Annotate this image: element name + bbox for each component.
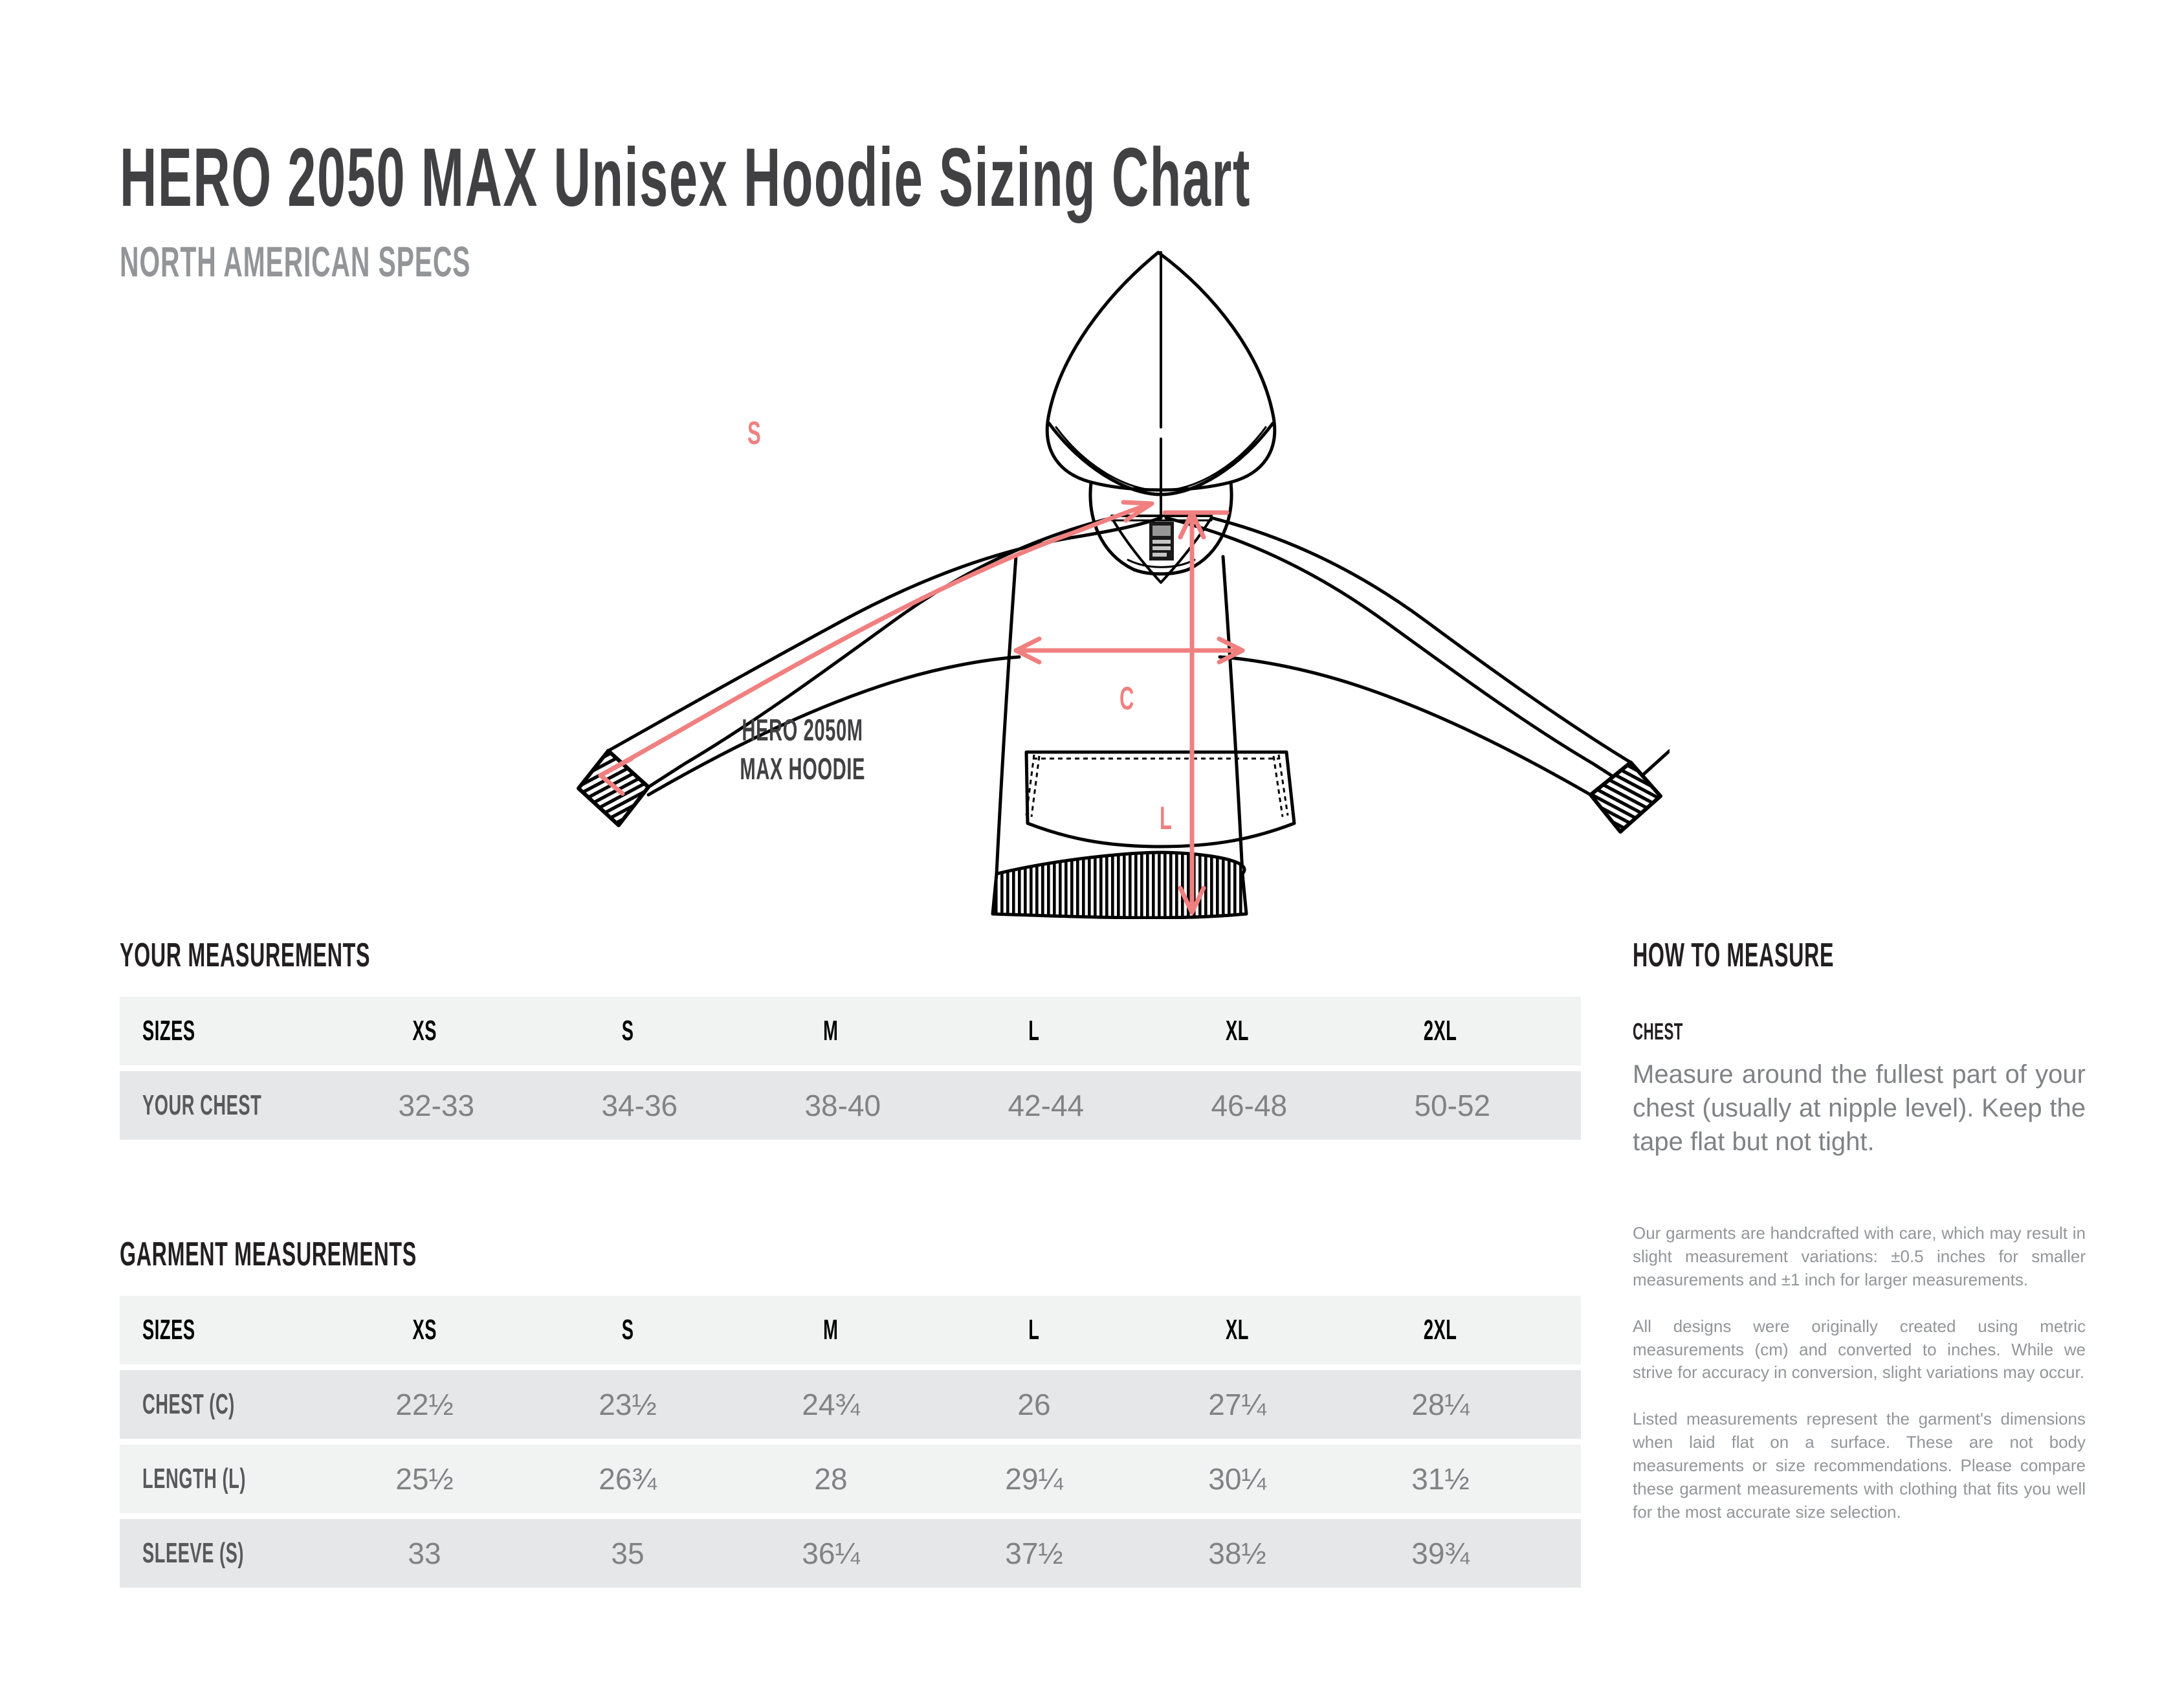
column-header-l: L xyxy=(932,1015,1136,1047)
cell-chest-s: 23½ xyxy=(526,1387,729,1422)
cell-your-chest-m: 38-40 xyxy=(741,1088,944,1123)
garment-caption-line2: MAX HOODIE xyxy=(740,750,865,788)
collar-bottom xyxy=(1134,570,1188,574)
cell-chest-2xl: 28¼ xyxy=(1339,1387,1542,1422)
column-header-m: M xyxy=(729,1015,932,1047)
your-measurements-table: SIZES XS S M L XL 2XL YOUR CHEST 32-33 3… xyxy=(120,997,1581,1146)
table-row: CHEST (C) 22½ 23½ 24¾ 26 27¼ 28¼ xyxy=(120,1370,1581,1439)
table-row: SLEEVE (S) 33 35 36¼ 37½ 38½ 39¾ xyxy=(120,1519,1581,1588)
cell-sleeve-xs: 33 xyxy=(323,1536,526,1571)
cell-chest-xl: 27¼ xyxy=(1136,1387,1339,1422)
cell-sleeve-l: 37½ xyxy=(932,1536,1136,1571)
how-to-measure-body: Measure around the fullest part of your … xyxy=(1633,1058,2086,1159)
cell-sleeve-m: 36¼ xyxy=(729,1536,932,1571)
column-header-s: S xyxy=(526,1314,729,1346)
garment-caption: HERO 2050M MAX HOODIE xyxy=(676,711,929,788)
row-label-sleeve: SLEEVE (S) xyxy=(120,1537,323,1570)
cell-your-chest-xl: 46-48 xyxy=(1147,1088,1351,1123)
cell-length-2xl: 31½ xyxy=(1339,1461,1542,1496)
garment-measurements-table: SIZES XS S M L XL 2XL CHEST (C) 22½ 23½ … xyxy=(120,1296,1581,1594)
cell-chest-xs: 22½ xyxy=(323,1387,526,1422)
page-subtitle-text: NORTH AMERICAN SPECS xyxy=(120,240,470,283)
cell-your-chest-xs: 32-33 xyxy=(335,1088,538,1123)
how-to-measure-heading: HOW TO MEASURE xyxy=(1633,938,2086,972)
cell-your-chest-2xl: 50-52 xyxy=(1351,1088,1554,1123)
table-header-row: SIZES XS S M L XL 2XL xyxy=(120,997,1581,1065)
cell-length-l: 29¼ xyxy=(932,1461,1136,1496)
cell-length-xl: 30¼ xyxy=(1136,1461,1339,1496)
table-row: YOUR CHEST 32-33 34-36 38-40 42-44 46-48… xyxy=(120,1071,1581,1140)
note-paragraph: Listed measurements represent the garmen… xyxy=(1633,1408,2086,1524)
column-header-sizes: SIZES xyxy=(120,1314,323,1346)
row-label-chest: CHEST (C) xyxy=(120,1388,323,1421)
column-header-xs: XS xyxy=(323,1314,526,1346)
column-header-xl: XL xyxy=(1136,1015,1339,1047)
how-to-measure-panel: HOW TO MEASURE CHEST Measure around the … xyxy=(1633,938,2086,1159)
brand-label-patch xyxy=(1149,522,1174,561)
row-label-your-chest: YOUR CHEST xyxy=(120,1089,335,1122)
column-header-l: L xyxy=(932,1314,1136,1346)
ribbed-hem xyxy=(993,852,1246,918)
note-paragraph: All designs were originally created usin… xyxy=(1633,1315,2086,1385)
cell-sleeve-xl: 38½ xyxy=(1136,1536,1339,1571)
cell-length-m: 28 xyxy=(729,1461,932,1496)
column-header-2xl: 2XL xyxy=(1339,1015,1542,1047)
garment-measurements-heading: GARMENT MEASUREMENTS xyxy=(120,1238,599,1271)
right-side-seam xyxy=(1223,557,1242,874)
left-side-seam xyxy=(997,557,1016,874)
collar-bottom-inner xyxy=(1128,560,1195,567)
right-cuff xyxy=(1591,762,1660,832)
pocket-stitching xyxy=(1026,755,1288,817)
cell-length-s: 26¾ xyxy=(526,1461,729,1496)
column-header-sizes: SIZES xyxy=(120,1015,323,1047)
measurement-annotations xyxy=(601,502,1242,913)
cell-chest-m: 24¾ xyxy=(729,1387,932,1422)
sleeve-measure-label: S xyxy=(747,414,769,452)
table-header-row: SIZES XS S M L XL 2XL xyxy=(120,1296,1581,1364)
cell-your-chest-l: 42-44 xyxy=(944,1088,1147,1123)
chest-measure-label: C xyxy=(1120,680,1143,717)
page-title-text: HERO 2050 MAX Unisex Hoodie Sizing Chart xyxy=(120,136,1251,221)
cell-your-chest-s: 34-36 xyxy=(538,1088,741,1123)
garment-caption-line1: HERO 2050M xyxy=(742,711,863,750)
table-row: LENGTH (L) 25½ 26¾ 28 29¼ 30¼ 31½ xyxy=(120,1445,1581,1513)
note-paragraph: Our garments are handcrafted with care, … xyxy=(1633,1222,2086,1292)
length-measure-label: L xyxy=(1160,799,1180,837)
cell-sleeve-2xl: 39¾ xyxy=(1339,1536,1542,1571)
your-measurements-heading: YOUR MEASUREMENTS xyxy=(120,938,524,972)
disclaimer-notes: Our garments are handcrafted with care, … xyxy=(1633,1222,2086,1524)
cell-sleeve-s: 35 xyxy=(526,1536,729,1571)
cell-length-xs: 25½ xyxy=(323,1461,526,1496)
column-header-xl: XL xyxy=(1136,1314,1339,1346)
column-header-2xl: 2XL xyxy=(1339,1314,1542,1346)
column-header-s: S xyxy=(526,1015,729,1047)
page-title: HERO 2050 MAX Unisex Hoodie Sizing Chart xyxy=(120,136,1802,221)
row-label-length: LENGTH (L) xyxy=(120,1463,323,1495)
column-header-xs: XS xyxy=(323,1015,526,1047)
hoodie-technical-drawing: S C L xyxy=(569,233,1670,919)
cell-chest-l: 26 xyxy=(932,1387,1136,1422)
how-to-measure-subheading: CHEST xyxy=(1633,1020,2086,1043)
column-header-m: M xyxy=(729,1314,932,1346)
